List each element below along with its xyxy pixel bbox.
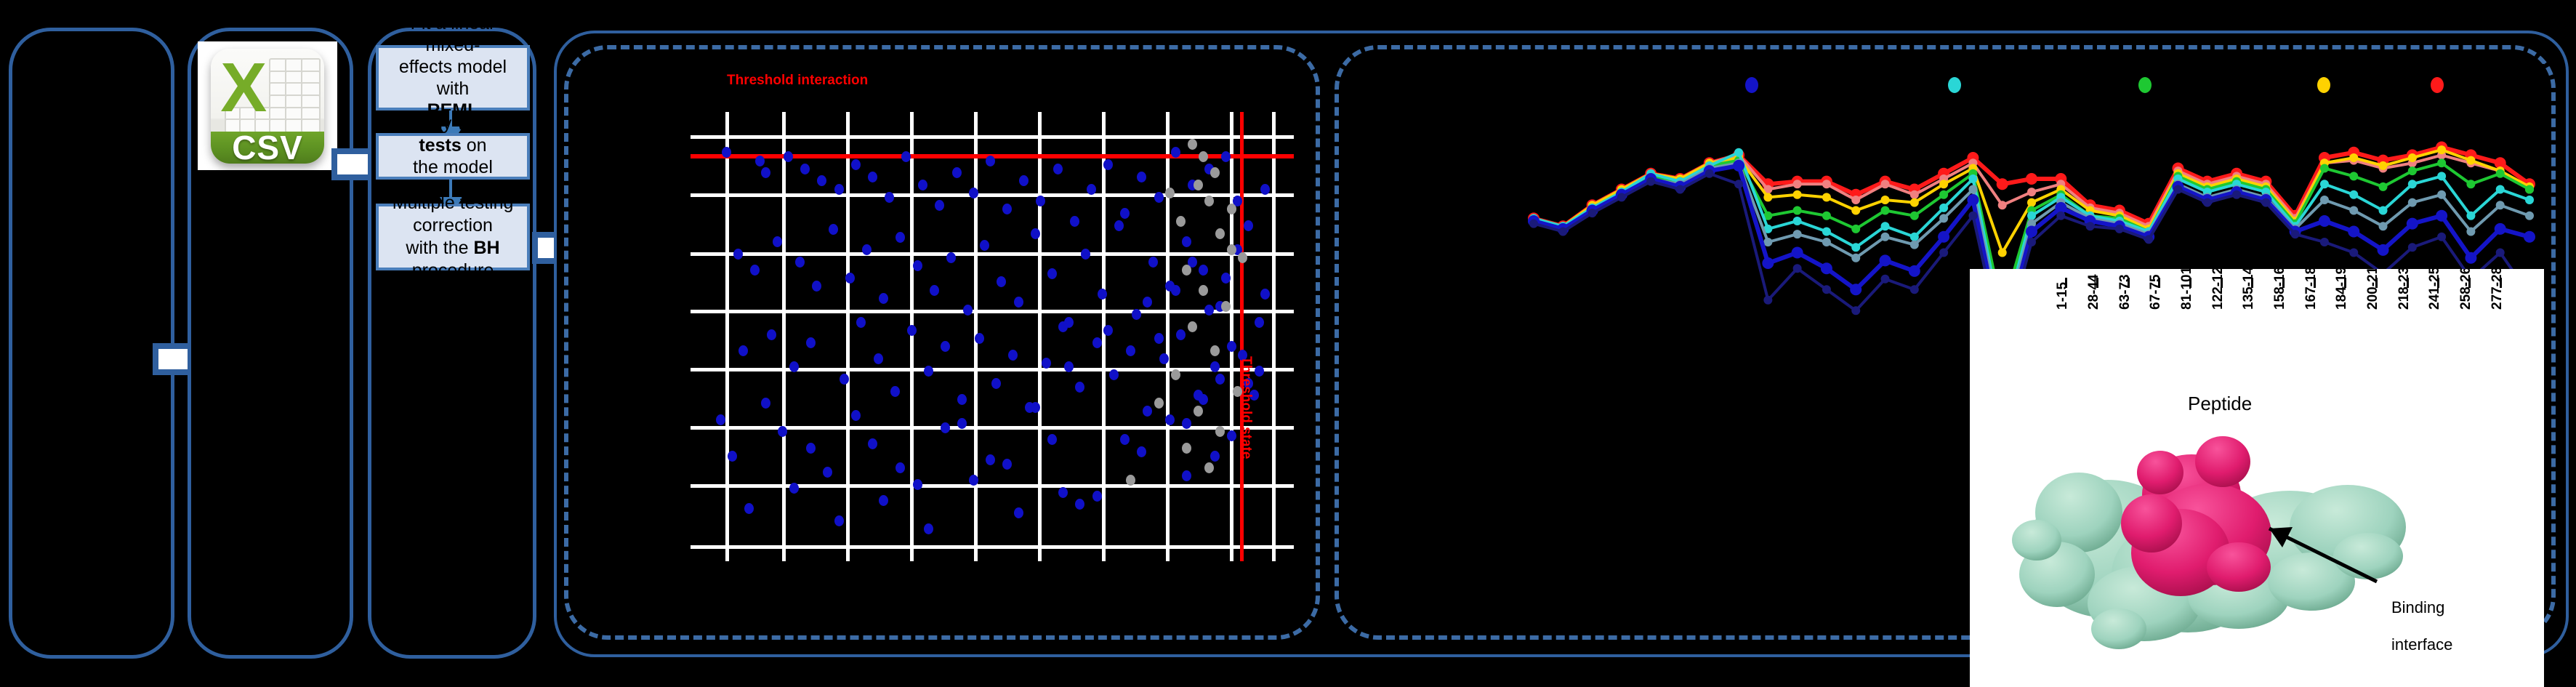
csv-extension-label: CSV (232, 128, 303, 164)
peptide-series-point-navy (2496, 249, 2505, 257)
peptide-series-point-cyan (1939, 204, 1948, 212)
peptide-series-point-yellow (2408, 153, 2417, 162)
peptide-series-point-blue (2436, 210, 2447, 222)
scatter-point-nonsignificant (1188, 139, 1197, 150)
scatter-point-significant (823, 467, 832, 478)
scatter-point-significant (1031, 402, 1040, 413)
peptide-series-point-yellow (1939, 180, 1948, 188)
scatter-point-significant (963, 305, 973, 316)
scatter-point-significant (1171, 285, 1180, 296)
peptide-series-point-green (2408, 166, 2417, 175)
scatter-point-significant (1227, 341, 1236, 352)
scatter-point-significant (728, 451, 737, 462)
peptide-series-point-green (2466, 180, 2475, 188)
peptide-series-point-navy (2437, 233, 2446, 241)
scatter-point-significant (722, 147, 731, 158)
peptide-series-point-navy (2320, 238, 2329, 246)
step-box-bh[interactable]: Multiple testing correction with the BH … (376, 204, 530, 270)
scatter-point-significant (946, 252, 956, 263)
scatter-point-significant (1047, 434, 1057, 445)
peptide-series-point-steel (2437, 190, 2446, 199)
peptide-series-point-navy (1588, 209, 1597, 217)
scatter-point-significant (913, 479, 922, 490)
peptide-series-point-green (1881, 206, 1890, 215)
scatter-point-nonsignificant (1182, 265, 1191, 276)
peptide-series-point-navy (1558, 228, 1567, 236)
protein-epitope-surface (2121, 436, 2271, 596)
scatter-point-significant (1036, 196, 1045, 206)
peptide-series-point-cyan (2027, 212, 2036, 220)
peptide-series-point-navy (2261, 198, 2270, 207)
peptide-series-point-cyan (2408, 180, 2417, 188)
scatter-point-significant (806, 443, 816, 454)
peptide-series-point-cyan (1910, 233, 1919, 241)
legend-dot-series-blue (1745, 77, 1758, 93)
peptide-series-point-blue (1880, 254, 1891, 266)
scatter-point-significant (868, 438, 877, 449)
peptide-label: 63-73 (2117, 274, 2133, 310)
excel-x-letter: X (217, 53, 271, 120)
scatter-point-nonsignificant (1215, 228, 1225, 239)
peptide-series-point-green (1822, 212, 1831, 220)
scatter-point-nonsignificant (1221, 301, 1231, 312)
scatter-point-significant (957, 394, 967, 405)
peptide-series-point-green (2320, 164, 2329, 173)
scatter-point-significant (1120, 434, 1130, 445)
peptide-series-point-green (2437, 158, 2446, 167)
scatter-point-significant (986, 454, 995, 465)
scatter-point-nonsignificant (1154, 398, 1164, 409)
scatter-point-significant (738, 345, 748, 356)
peptide-series-point-cyan (1793, 217, 1802, 225)
peptide-series-point-navy (1734, 180, 1743, 188)
peptide-axis-title: Peptide (2188, 393, 2252, 415)
protein-structure-image (1970, 418, 2544, 680)
scatter-point-significant (789, 361, 799, 372)
peptide-series-point-cyan (1968, 174, 1977, 183)
peptide-series-point-steel (2349, 206, 2358, 215)
scatter-point-significant (1014, 297, 1023, 308)
peptide-series-point-blue (2378, 244, 2389, 256)
legend-dot-series-green (2138, 77, 2152, 93)
peptide-series-point-steel (2320, 196, 2329, 204)
peptide-series-point-green (1793, 206, 1802, 215)
step-box-model[interactable]: Fit a linear mixed- effects model with R… (376, 45, 530, 111)
peptide-series-point-steel (2525, 212, 2534, 220)
scatter-point-significant (1227, 430, 1236, 441)
peptide-series-point-green (2349, 172, 2358, 180)
scatter-point-significant (941, 341, 950, 352)
peptide-series-point-blue (2495, 223, 2506, 235)
scatter-point-significant (1075, 499, 1084, 510)
scatter-point-nonsignificant (1215, 426, 1225, 437)
peptide-series-point-salmon (2027, 188, 2036, 196)
scatter-point-significant (1092, 337, 1102, 348)
scatter-point-significant (829, 224, 838, 235)
scatter-point-significant (761, 167, 770, 178)
peptide-series-point-navy (2203, 198, 2212, 207)
peptide-series-point-blue (1850, 284, 1861, 295)
scatter-point-significant (773, 236, 782, 247)
scatter-point-nonsignificant (1199, 285, 1208, 296)
scatter-point-significant (1215, 374, 1225, 385)
peptide-label: 277-284 (2490, 269, 2505, 310)
scatter-point-significant (1165, 414, 1175, 425)
peptide-series-point-navy (2144, 235, 2153, 244)
peptide-series-point-green (1851, 225, 1860, 233)
peptide-legend (1352, 64, 2544, 108)
peptide-series-point-yellow (1998, 249, 2007, 257)
scatter-point-significant (879, 495, 888, 506)
scatter-point-significant (834, 184, 844, 195)
peptide-series-point-blue (1967, 194, 1979, 206)
peptide-series-point-blue (2026, 226, 2037, 238)
peptide-series-point-yellow (2466, 156, 2475, 165)
peptide-series-point-cyan (1734, 148, 1743, 157)
peptide-series-point-steel (2466, 228, 2475, 236)
scatter-point-significant (1031, 228, 1040, 239)
scatter-point-significant (1081, 249, 1090, 260)
peptide-axis-and-structure[interactable]: 1-1528-4463-7367-7581-101122-129135-1441… (1970, 269, 2544, 687)
scatter-point-significant (1143, 406, 1152, 417)
scatter-point-significant (1182, 470, 1191, 481)
peptide-series-point-cyan (1881, 222, 1890, 230)
scatter-point-significant (1058, 487, 1068, 498)
scatter-point-significant (1210, 361, 1220, 372)
peptide-series-point-blue (1733, 160, 1744, 172)
peptide-series-point-navy (1968, 212, 1977, 220)
scatter-point-significant (1103, 325, 1113, 336)
scatter-point-significant (991, 378, 1001, 389)
scatter-point-significant (930, 285, 939, 296)
peptide-series-point-navy (2115, 225, 2124, 233)
scatter-point-significant (1132, 309, 1141, 320)
volcano-plot[interactable]: Threshold interaction (581, 60, 1301, 619)
legend-dot-series-yellow (2317, 77, 2330, 93)
scatter-point-significant (1120, 208, 1130, 219)
scatter-point-significant (901, 151, 911, 162)
scatter-point-significant (840, 374, 849, 385)
scatter-point-significant (1002, 459, 1012, 470)
peptide-series-point-navy (2086, 222, 2095, 230)
scatter-point-significant (767, 329, 776, 340)
binding-interface-annotation: Binding interface (2391, 580, 2452, 672)
peptide-label: 28-44 (2086, 274, 2102, 310)
scatter-point-significant (895, 232, 905, 243)
peptide-label: 122-129 (2210, 269, 2226, 310)
scatter-point-significant (1154, 333, 1164, 344)
scatter-point-significant (1008, 350, 1018, 361)
scatter-point-significant (1019, 175, 1029, 186)
scatter-point-significant (1221, 151, 1231, 162)
peptide-series-point-steel (1939, 214, 1948, 222)
scatter-point-nonsignificant (1204, 462, 1214, 473)
scatter-point-significant (1109, 369, 1119, 380)
scatter-point-significant (750, 265, 760, 276)
scatter-point-significant (1070, 216, 1079, 227)
peptide-series-point-blue (1821, 262, 1832, 274)
peptide-series-point-navy (2173, 185, 2182, 194)
peptide-label: 218-237 (2396, 269, 2412, 310)
scatter-point-significant (1137, 172, 1146, 182)
step-box-wald-label: Apply Wald tests on the model parameters (386, 113, 520, 200)
peptide-axis-labels: 1-1528-4463-7367-7581-101122-129135-1441… (1970, 294, 2544, 388)
scatter-point-significant (789, 483, 799, 494)
peptide-series-point-blue (2348, 226, 2359, 238)
scatter-point-significant (851, 410, 861, 421)
scatter-point-significant (1053, 164, 1063, 174)
peptide-series-point-cyan (1822, 228, 1831, 236)
scatter-point-significant (1143, 297, 1152, 308)
scatter-point-significant (1244, 220, 1253, 231)
scatter-point-significant (969, 475, 978, 486)
scatter-point-significant (1064, 361, 1074, 372)
peptide-series-point-green (1939, 190, 1948, 199)
scatter-point-significant (755, 156, 765, 166)
scatter-point-nonsignificant (1204, 196, 1214, 206)
scatter-point-significant (1221, 273, 1231, 284)
peptide-series-point-red (2026, 173, 2037, 185)
scatter-points-group (691, 112, 1294, 561)
scatter-point-significant (1075, 382, 1084, 393)
peptide-series-point-navy (1910, 285, 1919, 294)
scatter-point-significant (907, 325, 917, 336)
scatter-point-significant (1042, 358, 1051, 369)
peptide-series-point-steel (1793, 230, 1802, 238)
peptide-series-point-navy (2027, 238, 2036, 246)
peptide-series-point-salmon (1910, 190, 1919, 199)
peptide-label: 135-144 (2241, 269, 2257, 310)
scatter-point-significant (856, 317, 866, 328)
peptide-series-point-navy (1881, 275, 1890, 284)
scatter-point-significant (1058, 321, 1068, 332)
peptide-series-point-cyan (2525, 196, 2534, 204)
scatter-point-significant (834, 515, 844, 526)
scatter-point-significant (1002, 204, 1012, 214)
scatter-point-nonsignificant (1188, 321, 1197, 332)
scatter-point-significant (924, 523, 933, 534)
scatter-point-nonsignificant (1210, 167, 1220, 178)
peptide-series-point-salmon (1881, 180, 1890, 188)
peptide-series-point-navy (1675, 185, 1684, 194)
peptide-label: 1-15 (2055, 282, 2071, 310)
peptide-series-point-navy (2232, 190, 2241, 199)
peptide-series-point-navy (2291, 230, 2300, 238)
binding-interface-line1: Binding (2391, 598, 2452, 616)
scatter-point-significant (806, 337, 816, 348)
legend-dot-series-red (2431, 77, 2444, 93)
peptide-label: 184-199 (2334, 269, 2350, 310)
scatter-point-significant (1199, 394, 1208, 405)
peptide-series-point-yellow (2349, 153, 2358, 162)
scatter-point-significant (761, 398, 770, 409)
peptide-label: 167-180 (2303, 269, 2319, 310)
peptide-label: 81-101 (2179, 269, 2195, 310)
scatter-point-significant (969, 188, 978, 198)
scatter-point-nonsignificant (1199, 151, 1208, 162)
scatter-point-significant (1114, 220, 1124, 231)
scatter-point-significant (733, 249, 743, 260)
scatter-point-nonsignificant (1176, 216, 1186, 227)
scatter-point-significant (1159, 353, 1169, 364)
scatter-point-significant (957, 418, 967, 429)
csv-extension-band: CSV (211, 132, 324, 164)
scatter-point-significant (874, 353, 883, 364)
peptide-label: 200-214 (2365, 269, 2381, 310)
scatter-point-significant (918, 180, 927, 190)
scatter-point-significant (1210, 451, 1220, 462)
peptide-series-point-green (2379, 182, 2388, 191)
peptide-series-point-blue (1762, 257, 1774, 269)
peptide-series-point-cyan (2437, 172, 2446, 180)
peptide-series-point-salmon (1822, 180, 1831, 188)
scatter-point-significant (800, 164, 810, 174)
peptide-series-point-salmon (1851, 196, 1860, 204)
scatter-point-significant (845, 273, 855, 284)
scatter-point-significant (1014, 507, 1023, 518)
scatter-point-nonsignificant (1227, 244, 1236, 255)
peptide-series-point-navy (2408, 243, 2417, 252)
scatter-point-significant (895, 462, 905, 473)
peptide-series-point-steel (2496, 201, 2505, 209)
peptide-series-point-navy (1617, 193, 1626, 201)
peptide-label: 67-75 (2148, 274, 2164, 310)
peptide-series-point-blue (1792, 247, 1803, 259)
peptide-series-point-blue (2524, 231, 2535, 243)
scatter-point-significant (784, 151, 793, 162)
scatter-point-significant (1098, 289, 1107, 300)
peptide-series-point-cyan (2320, 180, 2329, 188)
scatter-point-significant (879, 293, 888, 304)
scatter-point-significant (1182, 236, 1191, 247)
threshold-interaction-label: Threshold interaction (727, 73, 868, 89)
scatter-point-significant (1148, 257, 1158, 268)
scatter-point-significant (885, 192, 894, 203)
csv-icon-frame: X CSV (198, 41, 337, 170)
peptide-series-point-steel (2379, 222, 2388, 230)
peptide-series-point-blue (1938, 231, 1949, 243)
scatter-point-significant (913, 260, 922, 271)
peptide-series-point-steel (1822, 238, 1831, 246)
scatter-point-nonsignificant (1171, 369, 1180, 380)
scatter-point-nonsignificant (1182, 443, 1191, 454)
threshold-state-label: Threshold state (1238, 356, 1254, 459)
peptide-label: 158-166 (2272, 269, 2288, 310)
scatter-point-significant (716, 414, 725, 425)
volcano-plot-area (691, 112, 1294, 561)
peptide-series-point-navy (1646, 177, 1655, 186)
peptide-series-point-green (2525, 185, 2534, 194)
peptide-series-point-cyan (1851, 243, 1860, 252)
peptide-series-point-blue (2465, 252, 2476, 264)
binding-interface-line2: interface (2391, 635, 2452, 654)
scatter-point-significant (1260, 184, 1270, 195)
peptide-series-point-blue (2407, 218, 2418, 230)
peptide-series-point-cyan (2496, 185, 2505, 194)
peptide-series-point-green (2496, 169, 2505, 178)
peptide-series-point-navy (1822, 285, 1831, 294)
scatter-point-significant (795, 257, 805, 268)
peptide-series-point-navy (1705, 169, 1714, 178)
data-input-panel[interactable] (9, 28, 174, 659)
scatter-point-significant (744, 503, 754, 514)
flowchart-canvas: X CSV Fit a linear mixed- effects model … (0, 0, 2576, 687)
scatter-point-significant (817, 175, 826, 186)
peptide-series-point-navy (1939, 249, 1948, 257)
peptide-series-point-navy (2349, 249, 2358, 257)
peptide-series-point-green (1910, 212, 1919, 220)
scatter-point-nonsignificant (1194, 180, 1203, 190)
scatter-point-nonsignificant (1238, 252, 1247, 263)
scatter-point-significant (1255, 317, 1264, 328)
peptide-series-point-cyan (2349, 190, 2358, 199)
scatter-point-nonsignificant (1126, 475, 1135, 486)
peptide-series-point-navy (1793, 264, 1802, 273)
scatter-point-significant (1176, 329, 1186, 340)
step-box-bh-label: Multiple testing correction with the BH … (386, 192, 520, 283)
legend-dot-series-cyan (1948, 77, 1961, 93)
peptide-label: 241-257 (2427, 269, 2443, 310)
scatter-point-nonsignificant (1165, 188, 1175, 198)
csv-file-icon[interactable]: X CSV (211, 49, 324, 164)
peptide-series-point-steel (2408, 198, 2417, 207)
scatter-point-significant (980, 240, 989, 251)
scatter-point-significant (935, 200, 944, 211)
peptide-series-point-yellow (1851, 206, 1860, 215)
scatter-point-significant (1182, 418, 1191, 429)
scatter-point-significant (1199, 265, 1208, 276)
scatter-point-significant (1137, 446, 1146, 457)
scatter-point-nonsignificant (1227, 204, 1236, 214)
scatter-point-significant (924, 366, 933, 377)
scatter-point-significant (778, 426, 787, 437)
peptide-series-point-yellow (1881, 196, 1890, 204)
scatter-point-significant (997, 276, 1006, 287)
peptide-series-point-steel (1881, 233, 1890, 241)
scatter-point-significant (851, 159, 861, 170)
scatter-point-significant (812, 281, 821, 292)
scatter-point-significant (1154, 192, 1164, 203)
scatter-point-significant (1047, 268, 1057, 279)
scatter-point-significant (862, 244, 872, 255)
peptide-series-point-yellow (2379, 161, 2388, 170)
peptide-series-point-steel (1910, 241, 1919, 249)
scatter-point-significant (1087, 184, 1096, 195)
scatter-point-significant (1126, 345, 1135, 356)
peptide-series-point-blue (2319, 215, 2330, 227)
scatter-point-significant (1103, 159, 1113, 170)
peptide-series-point-steel (1763, 238, 1772, 246)
scatter-point-significant (868, 172, 877, 182)
scatter-point-significant (1092, 491, 1102, 502)
peptide-series-point-steel (1851, 254, 1860, 262)
peptide-series-point-navy (2056, 212, 2065, 220)
peptide-series-point-yellow (2437, 145, 2446, 154)
peptide-series-point-yellow (1910, 198, 1919, 207)
peptide-series-point-cyan (2379, 206, 2388, 215)
scatter-point-significant (941, 422, 950, 433)
peptide-series-point-steel (1968, 185, 1977, 194)
step-box-wald[interactable]: Apply Wald tests on the model parameters (376, 133, 530, 180)
peptide-series-point-red (1997, 178, 2008, 190)
scatter-point-significant (1255, 366, 1264, 377)
scatter-point-significant (890, 386, 900, 397)
peptide-series-point-yellow (2027, 198, 2036, 207)
peptide-series-point-blue (1909, 265, 1920, 277)
scatter-point-nonsignificant (1194, 406, 1203, 417)
peptide-series-point-salmon (1793, 180, 1802, 188)
peptide-series-point-yellow (1822, 193, 1831, 201)
